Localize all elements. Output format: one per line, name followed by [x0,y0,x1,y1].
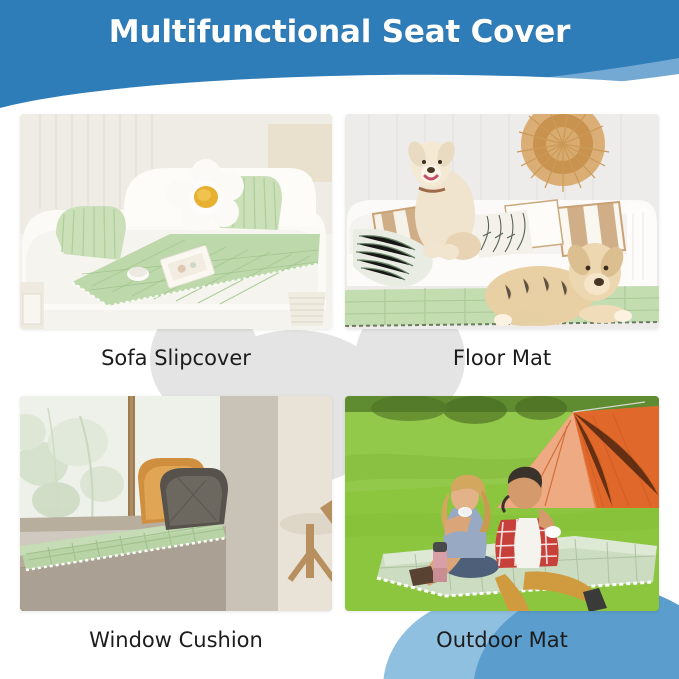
card-floor-mat[interactable]: Floor Mat [345,114,659,371]
window-cushion-illustration [20,396,332,611]
photo-window-cushion [20,396,332,611]
card-label-sofa-slipcover: Sofa Slipcover [20,345,332,371]
photo-sofa-slipcover [20,114,332,329]
card-label-floor-mat: Floor Mat [345,345,659,371]
card-label-window-cushion: Window Cushion [20,627,332,653]
card-label-outdoor-mat: Outdoor Mat [345,627,659,653]
product-infographic: Multifunctional Seat Cover [0,0,679,679]
photo-floor-mat [345,114,659,329]
photo-outdoor-mat [345,396,659,611]
page-title: Multifunctional Seat Cover [0,12,679,52]
outdoor-mat-illustration [345,396,659,611]
sofa-slipcover-illustration [20,114,332,329]
cards-grid: Sofa Slipcover [0,108,679,679]
card-outdoor-mat[interactable]: Outdoor Mat [345,396,659,653]
header-banner: Multifunctional Seat Cover [0,0,679,108]
card-window-cushion[interactable]: Window Cushion [20,396,332,653]
card-sofa-slipcover[interactable]: Sofa Slipcover [20,114,332,371]
floor-mat-illustration [345,114,659,329]
